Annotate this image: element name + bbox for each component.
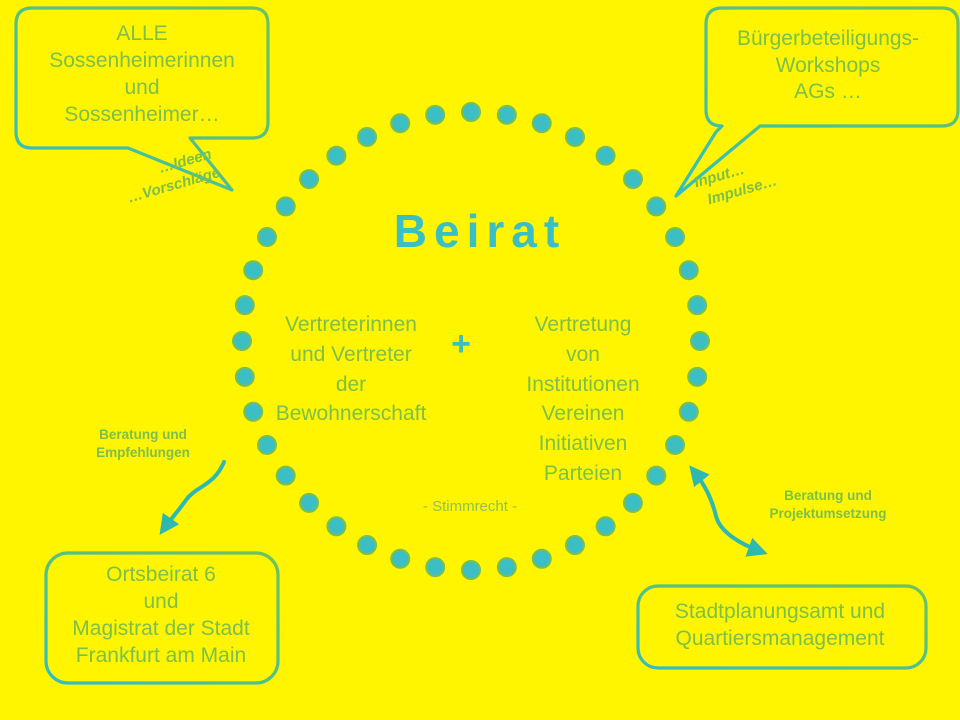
left-col-line-2: und Vertreter <box>258 340 444 370</box>
left-col-line-4: Bewohnerschaft <box>258 399 444 429</box>
annot-bl-line-1: Beratung und <box>78 426 208 444</box>
center-footnote-stimmrecht: - Stimmrecht - <box>330 498 610 515</box>
ring-dot <box>358 128 376 146</box>
arrow-beratung-empfehlungen <box>163 462 224 530</box>
bubble-top-left-text: ALLE Sossenheimerinnen und Sossenheimer… <box>16 12 268 138</box>
bubble-tl-line-1: ALLE <box>116 21 167 48</box>
ring-dot <box>244 261 262 279</box>
center-left-column: Vertreterinnen und Vertreter der Bewohne… <box>258 310 444 429</box>
ring-dot <box>498 558 516 576</box>
right-col-line-1: Vertretung <box>490 310 676 340</box>
box-bl-line-3: Magistrat der Stadt <box>72 616 249 643</box>
box-br-line-2: Quartiersmanagement <box>676 626 885 653</box>
bubble-tl-line-3: und <box>124 75 159 102</box>
ring-dot <box>236 368 254 386</box>
right-col-line-4: Vereinen <box>490 399 676 429</box>
ring-dot <box>462 103 480 121</box>
bubble-tr-line-3: AGs … <box>794 79 862 106</box>
bubble-top-right-text: Bürgerbeteiligungs- Workshops AGs … <box>706 12 950 120</box>
ring-dot <box>688 368 706 386</box>
bubble-tr-line-2: Workshops <box>776 53 881 80</box>
center-title-beirat: Beirat <box>0 204 960 258</box>
box-bl-line-2: und <box>143 589 178 616</box>
bubble-tl-line-4: Sossenheimer… <box>64 102 219 129</box>
ring-dot <box>327 147 345 165</box>
ring-dot <box>300 170 318 188</box>
ring-dot <box>498 106 516 124</box>
ring-dot <box>566 536 584 554</box>
box-bl-line-1: Ortsbeirat 6 <box>106 562 216 589</box>
bubble-tr-line-1: Bürgerbeteiligungs- <box>737 26 919 53</box>
ring-dot <box>566 128 584 146</box>
annotation-ideen-vorschlaege: …Ideen …Vorschläge <box>120 144 223 209</box>
ring-dot <box>426 558 444 576</box>
ring-dot <box>391 114 409 132</box>
ring-dot <box>597 517 615 535</box>
ring-dot <box>624 170 642 188</box>
annotation-beratung-projektumsetzung: Beratung und Projektumsetzung <box>748 487 908 523</box>
ring-dot <box>277 467 295 485</box>
ring-dot <box>680 261 698 279</box>
annotation-beratung-empfehlungen: Beratung und Empfehlungen <box>78 426 208 462</box>
ring-dot <box>691 332 709 350</box>
ring-dot <box>327 517 345 535</box>
right-col-line-6: Parteien <box>490 459 676 489</box>
diagram-canvas: ALLE Sossenheimerinnen und Sossenheimer…… <box>0 0 960 720</box>
ring-dot <box>533 550 551 568</box>
right-col-line-3: Institutionen <box>490 370 676 400</box>
ring-dot <box>688 296 706 314</box>
ring-dot <box>300 494 318 512</box>
box-bottom-right-text: Stadtplanungsamt und Quartiersmanagement <box>638 588 922 664</box>
ring-dot <box>233 332 251 350</box>
box-br-line-1: Stadtplanungsamt und <box>675 599 885 626</box>
ring-dot <box>533 114 551 132</box>
box-bl-line-4: Frankfurt am Main <box>76 643 246 670</box>
annot-bl-line-2: Empfehlungen <box>78 444 208 462</box>
ring-dot <box>236 296 254 314</box>
ring-dot <box>680 403 698 421</box>
bubble-tl-line-2: Sossenheimerinnen <box>49 48 235 75</box>
center-right-column: Vertretung von Institutionen Vereinen In… <box>490 310 676 489</box>
annot-br-line-1: Beratung und <box>748 487 908 505</box>
left-col-line-3: der <box>258 370 444 400</box>
ring-dot <box>426 106 444 124</box>
ring-dot <box>462 561 480 579</box>
ring-dot <box>624 494 642 512</box>
ring-dot <box>258 436 276 454</box>
ring-dot <box>391 550 409 568</box>
box-bottom-left-text: Ortsbeirat 6 und Magistrat der Stadt Fra… <box>48 555 274 677</box>
annot-br-line-2: Projektumsetzung <box>748 505 908 523</box>
right-col-line-2: von <box>490 340 676 370</box>
ring-dot <box>358 536 376 554</box>
left-col-line-1: Vertreterinnen <box>258 310 444 340</box>
right-col-line-5: Initiativen <box>490 429 676 459</box>
ring-dot <box>597 147 615 165</box>
plus-icon: + <box>441 325 481 364</box>
